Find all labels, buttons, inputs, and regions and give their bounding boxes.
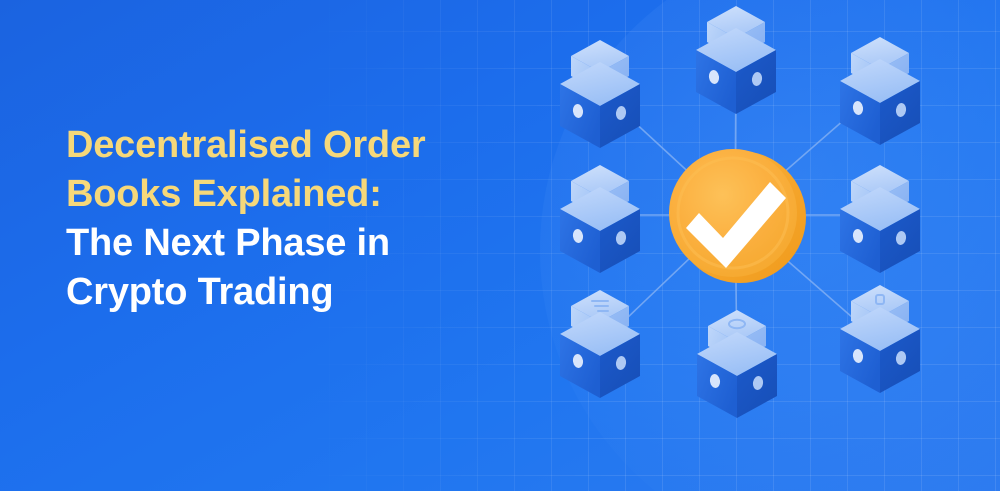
node-bottom-left[interactable] <box>560 290 640 398</box>
coin-face <box>669 149 797 277</box>
cube-right <box>880 209 920 273</box>
node-top-center[interactable] <box>696 6 776 114</box>
cube-dot-right <box>895 230 907 245</box>
cube-dot-left <box>709 373 721 388</box>
cube-top <box>840 307 920 351</box>
cube-top <box>560 62 640 106</box>
cube-left <box>560 209 600 273</box>
cube-dot-left <box>852 348 864 363</box>
link-bottom-left <box>604 215 735 340</box>
cube-left <box>697 354 737 418</box>
node-mid-right[interactable] <box>840 165 920 273</box>
cube-dot-left <box>572 103 584 118</box>
cube-cap-top <box>851 165 909 197</box>
cube-left <box>840 209 880 273</box>
cube-dot-left <box>708 69 720 84</box>
block-cube-icon <box>840 165 920 273</box>
cube-right <box>600 84 640 148</box>
cube-top <box>697 332 777 376</box>
cube-cap-right <box>880 301 909 337</box>
link-bottom-right <box>735 215 876 338</box>
cube-cap-left <box>571 56 600 92</box>
stack-lines-icon <box>592 301 608 311</box>
cube-cap-left <box>708 326 737 362</box>
cube-top <box>560 187 640 231</box>
link-top-right <box>735 92 876 215</box>
coin-rim <box>674 151 806 283</box>
cube-cap-left <box>851 53 880 89</box>
block-cube-icon <box>560 40 640 148</box>
node-top-left[interactable] <box>560 40 640 148</box>
node-bottom-right[interactable] <box>840 285 920 393</box>
coin-inner-ring <box>678 158 788 268</box>
cube-cap-right <box>600 56 629 92</box>
cube-right <box>880 81 920 145</box>
block-cube-disc-icon <box>697 310 777 418</box>
disc-glyph-icon <box>729 320 745 328</box>
cube-dot-right <box>895 102 907 117</box>
cube-cap-top <box>851 285 909 317</box>
network-links <box>600 70 878 360</box>
chip-glyph-icon <box>876 295 884 304</box>
checkmark-icon <box>686 182 786 268</box>
check-coin-icon <box>669 149 806 283</box>
cube-cap-left <box>851 181 880 217</box>
cube-cap-top <box>571 40 629 72</box>
cube-dot-left <box>572 353 584 368</box>
headline-line-4: Crypto Trading <box>66 268 536 317</box>
block-cube-stack-icon <box>560 290 640 398</box>
cube-cap-right <box>600 306 629 342</box>
cube-cap-right <box>736 22 765 58</box>
cube-dot-left <box>852 228 864 243</box>
cube-right <box>737 354 777 418</box>
cube-right <box>600 209 640 273</box>
headline-line-1: Decentralised Order <box>66 121 536 170</box>
cube-cap-left <box>571 306 600 342</box>
cube-cap-top <box>708 310 766 342</box>
cube-dot-right <box>895 350 907 365</box>
page-title: Decentralised Order Books Explained: The… <box>66 121 536 317</box>
cube-top <box>840 59 920 103</box>
cube-dot-right <box>751 71 763 86</box>
cube-right <box>736 50 776 114</box>
block-cube-icon <box>696 6 776 114</box>
headline-line-2: Books Explained: <box>66 170 536 219</box>
cube-top <box>840 187 920 231</box>
cube-cap-right <box>600 181 629 217</box>
cube-cap-top <box>571 165 629 197</box>
cube-dot-left <box>852 100 864 115</box>
link-top-left <box>605 95 735 215</box>
center-node[interactable] <box>669 149 806 283</box>
link-bottom-center <box>735 215 737 360</box>
cube-left <box>840 329 880 393</box>
cube-dot-right <box>615 105 627 120</box>
cube-dot-left <box>572 228 584 243</box>
block-cube-icon <box>560 165 640 273</box>
node-top-right[interactable] <box>840 37 920 145</box>
cube-cap-top <box>571 290 629 322</box>
cube-cap-left <box>571 181 600 217</box>
block-cube-chip-icon <box>840 285 920 393</box>
block-cube-icon <box>840 37 920 145</box>
cube-left <box>560 334 600 398</box>
node-mid-left[interactable] <box>560 165 640 273</box>
cube-cap-top <box>707 6 765 38</box>
cube-cap-left <box>851 301 880 337</box>
cube-cap-right <box>880 53 909 89</box>
cube-dot-right <box>615 230 627 245</box>
cube-right <box>600 334 640 398</box>
cube-dot-right <box>752 375 764 390</box>
cube-cap-top <box>851 37 909 69</box>
cube-cap-right <box>880 181 909 217</box>
hero-banner: Decentralised Order Books Explained: The… <box>0 0 1000 491</box>
cube-left <box>840 81 880 145</box>
cube-dot-right <box>615 355 627 370</box>
background-glow <box>540 0 1000 491</box>
cube-cap-left <box>707 22 736 58</box>
headline-line-3: The Next Phase in <box>66 219 536 268</box>
link-top-center <box>735 70 736 215</box>
node-bottom-center[interactable] <box>697 310 777 418</box>
cube-top <box>696 28 776 72</box>
cube-right <box>880 329 920 393</box>
cube-cap-right <box>737 326 766 362</box>
cube-left <box>696 50 736 114</box>
cube-top <box>560 312 640 356</box>
cube-left <box>560 84 600 148</box>
